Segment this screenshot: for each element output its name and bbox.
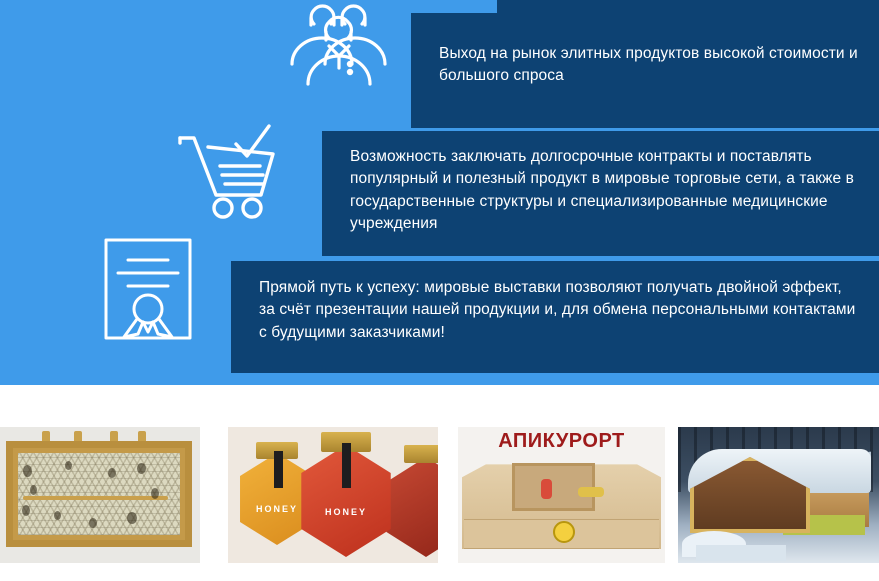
bottom-strip — [0, 563, 879, 581]
benefit-card-1: Выход на рынок элитных продуктов высокой… — [411, 13, 879, 128]
shopping-cart-check-icon — [172, 118, 292, 221]
top-accent-strip — [497, 0, 879, 13]
benefit-card-2: Возможность заключать долгосрочные контр… — [322, 131, 879, 256]
honey-jars-photo[interactable]: HONEY HONEY — [228, 427, 438, 563]
slide-root: Выход на рынок элитных продуктов высокой… — [0, 0, 879, 581]
apiresort-house-photo[interactable]: АПИКУРОРТ — [458, 427, 665, 563]
benefit-text-3: Прямой путь к успеху: мировые выставки п… — [259, 277, 861, 344]
thumbnail-strip: HONEY HONEY АПИКУРОРТ — [0, 427, 879, 563]
snowy-bee-house-photo[interactable] — [678, 427, 879, 563]
apiresort-caption: АПИКУРОРТ — [458, 430, 665, 453]
jar-label-b: HONEY — [294, 507, 398, 517]
honeycomb-frame-photo[interactable] — [0, 427, 200, 563]
certificate-award-icon — [102, 236, 194, 342]
people-group-icon — [284, 0, 392, 91]
benefit-card-3: Прямой путь к успеху: мировые выставки п… — [231, 261, 879, 373]
benefit-text-1: Выход на рынок элитных продуктов высокой… — [439, 43, 861, 88]
hero-panel: Выход на рынок элитных продуктов высокой… — [0, 0, 879, 385]
benefit-text-2: Возможность заключать долгосрочные контр… — [350, 146, 861, 236]
